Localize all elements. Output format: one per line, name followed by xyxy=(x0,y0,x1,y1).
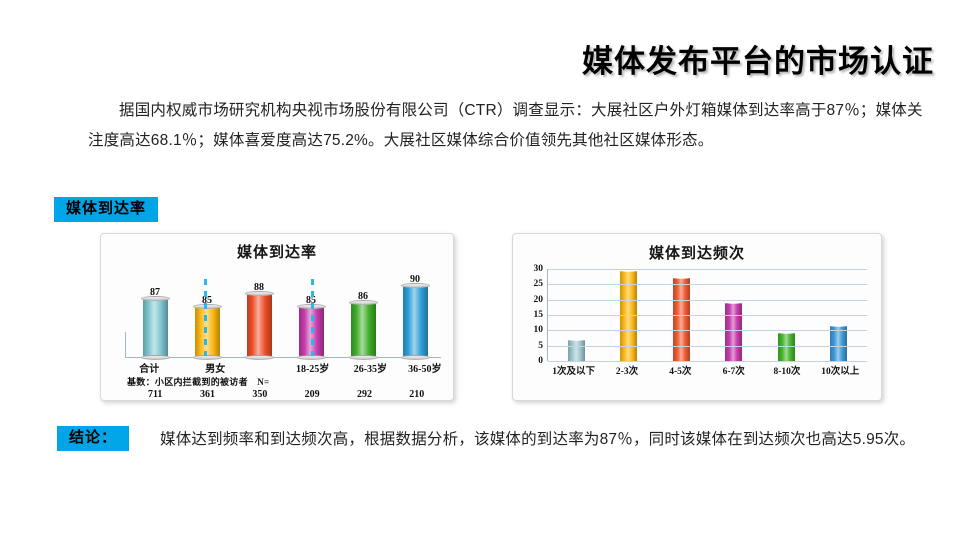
category-label: 36-50岁 xyxy=(408,360,441,375)
bar-slot: 85 xyxy=(181,265,233,357)
gridline xyxy=(548,346,867,347)
y-tick-label: 25 xyxy=(534,279,544,289)
gridline xyxy=(548,315,867,316)
left-chart-base-note: 基数：小区内拦截到的被访者 N= xyxy=(127,375,453,388)
gridline xyxy=(548,361,867,362)
bar-slot: 88 xyxy=(233,265,285,357)
left-chart-x-axis xyxy=(125,357,441,358)
conclusion-badge: 结论： xyxy=(57,426,129,451)
conclusion-text: 媒体达到频率和到达频次高，根据数据分析，该媒体的到达率为87％，同时该媒体在到达… xyxy=(160,424,928,456)
category-label: 4-5次 xyxy=(654,363,707,377)
left-chart-y-axis xyxy=(125,332,126,358)
chart-title-media-reach: 媒体到达率 xyxy=(101,241,453,262)
bar-slot: 87 xyxy=(129,265,181,357)
left-chart-plot: 87 85 88 85 86 90 xyxy=(113,266,443,358)
base-value: 350 xyxy=(234,389,286,400)
category-label: 男女 xyxy=(205,360,225,375)
cylinder-bar xyxy=(195,307,220,357)
base-value: 210 xyxy=(391,389,443,400)
base-value: 292 xyxy=(338,389,390,400)
category-label: 1次及以下 xyxy=(547,363,600,377)
group-separator xyxy=(311,279,314,356)
section-badge-media-reach: 媒体到达率 xyxy=(54,197,158,222)
left-chart-category-labels: 合计 男女 18-25岁 26-35岁 36-50岁 xyxy=(113,360,443,374)
group-separator xyxy=(204,279,207,356)
gridline xyxy=(548,284,867,285)
bar xyxy=(778,333,795,361)
y-tick-label: 5 xyxy=(538,341,543,351)
left-chart-bars: 87 85 88 85 86 90 xyxy=(129,265,441,357)
category-label: 6-7次 xyxy=(707,363,760,377)
left-chart-base-values: 711 361 350 209 292 210 xyxy=(129,389,443,400)
base-value: 209 xyxy=(286,389,338,400)
intro-paragraph: 据国内权威市场研究机构央视市场股份有限公司（CTR）调查显示：大展社区户外灯箱媒… xyxy=(88,96,928,156)
y-tick-label: 30 xyxy=(534,264,544,274)
right-chart-y-axis-labels: 051015202530 xyxy=(521,269,543,361)
cylinder-bar xyxy=(143,299,168,357)
right-chart-plot: 051015202530 1次及以下 2-3次 4-5次 6-7次 8-10次 … xyxy=(521,269,871,373)
cylinder-bar xyxy=(403,286,428,357)
base-value: 711 xyxy=(129,389,181,400)
right-chart-plot-area xyxy=(547,269,867,361)
bar xyxy=(725,303,742,361)
chart-media-reach: 媒体到达率 87 85 88 85 86 xyxy=(100,233,454,401)
y-tick-label: 0 xyxy=(538,356,543,366)
gridline xyxy=(548,269,867,270)
bar xyxy=(568,340,585,361)
bar-slot: 86 xyxy=(337,265,389,357)
category-label: 18-25岁 xyxy=(296,360,329,375)
cylinder-bar xyxy=(247,294,272,357)
y-tick-label: 20 xyxy=(534,295,544,305)
chart-title-media-frequency: 媒体到达频次 xyxy=(513,242,881,263)
chart-media-frequency: 媒体到达频次 051015202530 1次及以下 2-3次 4-5次 6-7次… xyxy=(512,233,882,401)
category-label: 2-3次 xyxy=(600,363,653,377)
category-label: 8-10次 xyxy=(760,363,813,377)
category-label: 10次以上 xyxy=(814,363,867,377)
gridline xyxy=(548,300,867,301)
base-value: 361 xyxy=(181,389,233,400)
category-label: 26-35岁 xyxy=(354,360,387,375)
gridline xyxy=(548,330,867,331)
bar xyxy=(673,278,690,361)
page-title: 媒体发布平台的市场认证 xyxy=(582,36,934,81)
y-tick-label: 15 xyxy=(534,310,544,320)
category-label: 合计 xyxy=(139,360,159,375)
y-tick-label: 10 xyxy=(534,325,544,335)
cylinder-bar xyxy=(351,303,376,357)
bar-slot: 90 xyxy=(389,265,441,357)
right-chart-category-labels: 1次及以下 2-3次 4-5次 6-7次 8-10次 10次以上 xyxy=(547,363,867,377)
